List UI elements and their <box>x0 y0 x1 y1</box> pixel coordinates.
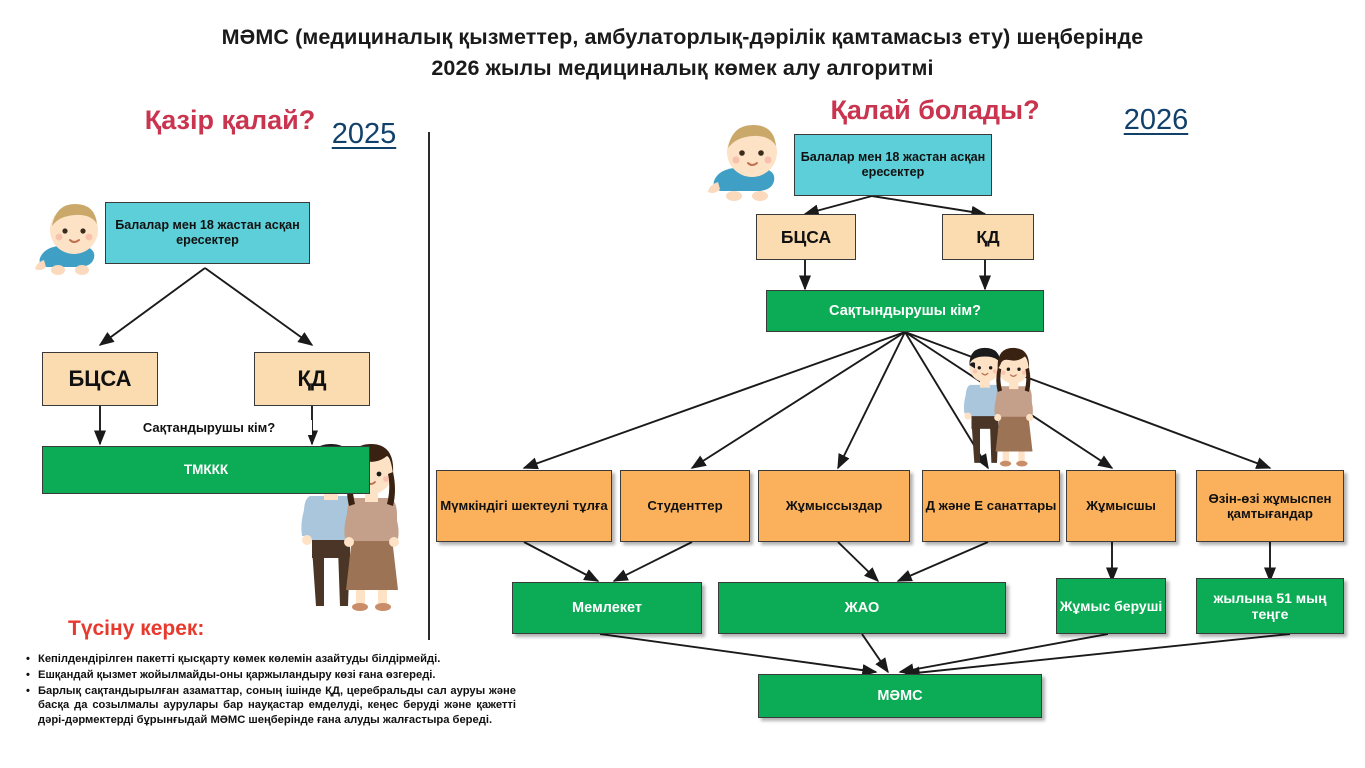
wire-question-to-cat-2 <box>692 332 905 468</box>
right-root-box[interactable]: Балалар мен 18 жастан асқан ересектер <box>794 134 992 196</box>
payer-box-memleket[interactable]: Мемлекет <box>512 582 702 634</box>
left-question-label: Сақтандырушы кім? <box>106 420 312 435</box>
right-root-label: Балалар мен 18 жастан асқан ересектер <box>795 150 991 179</box>
category-box-1[interactable]: Мүмкіндігі шектеулі тұлға <box>436 470 612 542</box>
category-box-3[interactable]: Жұмыссыздар <box>758 470 910 542</box>
wire-zhao-to-msms <box>862 634 888 672</box>
category-label-2: Студенттер <box>647 498 722 513</box>
right-question-box[interactable]: Сақтындырушы кім? <box>766 290 1044 332</box>
right-kd-box[interactable]: ҚД <box>942 214 1034 260</box>
final-msms-label: МӘМС <box>877 688 922 705</box>
right-bcsa-box[interactable]: БЦСА <box>756 214 856 260</box>
left-result-label: ТМККК <box>184 462 228 478</box>
category-label-1: Мүмкіндігі шектеулі тұлға <box>440 498 608 513</box>
payer-box-employer[interactable]: Жұмыс беруші <box>1056 578 1166 634</box>
wire-cat3-to-zhao <box>838 542 878 581</box>
payer-label-zhao: ЖАО <box>845 600 880 617</box>
left-kd-label: ҚД <box>297 366 326 392</box>
wire-right-root-to-bcsa <box>805 196 872 214</box>
baby-clipart-right <box>700 122 804 206</box>
wire-left-root-to-kd <box>205 268 312 345</box>
category-label-6: Өзін-өзі жұмыспен қамтығандар <box>1197 491 1343 522</box>
category-box-2[interactable]: Студенттер <box>620 470 750 542</box>
left-bcsa-label: БЦСА <box>68 366 131 392</box>
right-kd-label: ҚД <box>976 227 999 247</box>
category-label-3: Жұмыссыздар <box>786 498 883 513</box>
left-bcsa-box[interactable]: БЦСА <box>42 352 158 406</box>
wire-berushi-to-msms <box>900 634 1108 672</box>
final-msms-box[interactable]: МӘМС <box>758 674 1042 718</box>
category-label-4: Д және Е санаттары <box>926 498 1057 513</box>
category-box-6[interactable]: Өзін-өзі жұмыспен қамтығандар <box>1196 470 1344 542</box>
category-label-5: Жұмысшы <box>1086 498 1156 513</box>
right-bcsa-label: БЦСА <box>781 227 831 247</box>
right-question-label: Сақтындырушы кім? <box>829 303 981 320</box>
category-box-4[interactable]: Д және Е санаттары <box>922 470 1060 542</box>
wire-cat4-to-zhao <box>898 542 988 581</box>
payer-label-annual-fee: жылына 51 мың теңге <box>1197 590 1343 622</box>
wire-cat2-to-memleket <box>614 542 692 581</box>
wire-51mln-to-msms <box>906 634 1290 674</box>
category-box-5[interactable]: Жұмысшы <box>1066 470 1176 542</box>
payer-label-memleket: Мемлекет <box>572 600 642 617</box>
connector-layer <box>0 0 1365 768</box>
payer-label-employer: Жұмыс беруші <box>1060 598 1163 614</box>
couple-clipart-right <box>948 338 1056 470</box>
slide-canvas: МӘМС (медициналық қызметтер, амбулаторлы… <box>0 0 1365 768</box>
wire-memleket-to-msms <box>600 634 876 672</box>
left-kd-box[interactable]: ҚД <box>254 352 370 406</box>
left-root-label: Балалар мен 18 жастан асқан ересектер <box>106 218 309 247</box>
left-root-box[interactable]: Балалар мен 18 жастан асқан ересектер <box>105 202 310 264</box>
payer-box-zhao[interactable]: ЖАО <box>718 582 1006 634</box>
left-result-tmkkk-box[interactable]: ТМККК <box>42 446 370 494</box>
wire-right-root-to-kd <box>872 196 985 214</box>
wire-cat1-to-memleket <box>524 542 598 581</box>
payer-box-annual-fee[interactable]: жылына 51 мың теңге <box>1196 578 1344 634</box>
